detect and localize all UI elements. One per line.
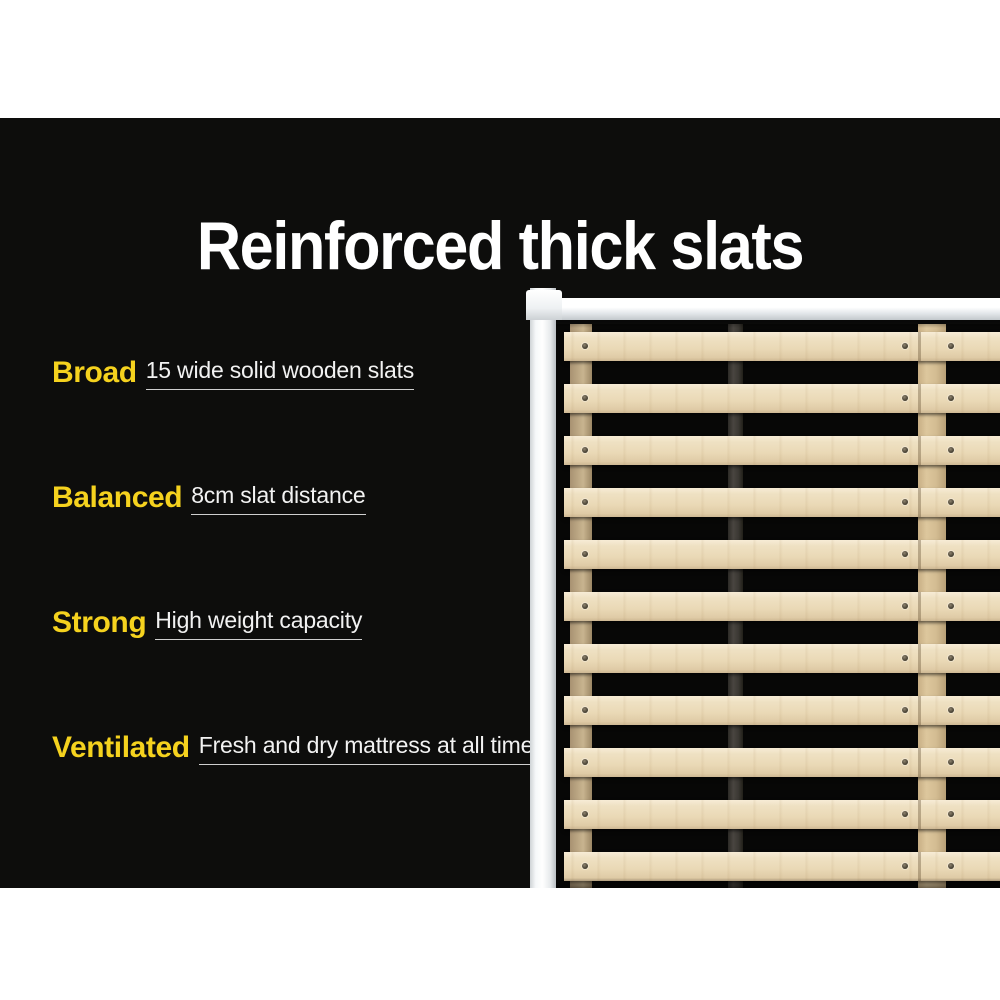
screw-icon bbox=[948, 343, 954, 349]
feature-term: Ventilated bbox=[52, 731, 190, 765]
screw-icon bbox=[948, 863, 954, 869]
screw-icon bbox=[902, 707, 908, 713]
wooden-slat bbox=[564, 696, 1000, 725]
screw-icon bbox=[902, 603, 908, 609]
deck-bottom-fade bbox=[542, 878, 1000, 888]
screw-icon bbox=[582, 707, 588, 713]
feature-item-broad: Broad 15 wide solid wooden slats bbox=[52, 356, 522, 481]
wooden-slat bbox=[564, 592, 1000, 621]
slat-seam bbox=[918, 436, 921, 465]
slat-seam bbox=[918, 540, 921, 569]
slat-seam bbox=[918, 800, 921, 829]
slat-seam bbox=[918, 488, 921, 517]
feature-term: Broad bbox=[52, 356, 137, 390]
wooden-slat bbox=[564, 332, 1000, 361]
wooden-slat bbox=[564, 748, 1000, 777]
wooden-slat bbox=[564, 436, 1000, 465]
screw-icon bbox=[902, 499, 908, 505]
screw-icon bbox=[902, 343, 908, 349]
screw-icon bbox=[902, 447, 908, 453]
feature-item-balanced: Balanced 8cm slat distance bbox=[52, 481, 522, 606]
screw-icon bbox=[948, 395, 954, 401]
feature-description: 8cm slat distance bbox=[191, 482, 365, 515]
product-photo bbox=[516, 118, 1000, 888]
feature-list: Broad 15 wide solid wooden slats Balance… bbox=[52, 356, 522, 856]
feature-term: Strong bbox=[52, 606, 146, 640]
screw-icon bbox=[948, 603, 954, 609]
feature-description: Fresh and dry mattress at all times bbox=[199, 732, 545, 765]
screw-icon bbox=[948, 759, 954, 765]
feature-description: High weight capacity bbox=[155, 607, 362, 640]
screw-icon bbox=[948, 811, 954, 817]
screw-icon bbox=[582, 759, 588, 765]
screw-icon bbox=[902, 551, 908, 557]
feature-item-ventilated: Ventilated Fresh and dry mattress at all… bbox=[52, 731, 522, 856]
slat-seam bbox=[918, 644, 921, 673]
promo-image-canvas: Reinforced thick slats Broad 15 wide sol… bbox=[0, 0, 1000, 1000]
bed-frame-post-cap bbox=[526, 290, 562, 320]
screw-icon bbox=[582, 447, 588, 453]
slat-deck bbox=[542, 324, 1000, 888]
wooden-slat bbox=[564, 540, 1000, 569]
bed-frame-rail-shadow bbox=[542, 320, 1000, 328]
screw-icon bbox=[948, 655, 954, 661]
wooden-slat bbox=[564, 852, 1000, 881]
screw-icon bbox=[582, 499, 588, 505]
screw-icon bbox=[582, 395, 588, 401]
wooden-slat bbox=[564, 800, 1000, 829]
screw-icon bbox=[902, 759, 908, 765]
screw-icon bbox=[948, 499, 954, 505]
screw-icon bbox=[902, 655, 908, 661]
screw-icon bbox=[582, 343, 588, 349]
feature-item-strong: Strong High weight capacity bbox=[52, 606, 522, 731]
wooden-slat bbox=[564, 488, 1000, 517]
screw-icon bbox=[948, 551, 954, 557]
screw-icon bbox=[902, 811, 908, 817]
slat-seam bbox=[918, 332, 921, 361]
slat-seam bbox=[918, 592, 921, 621]
screw-icon bbox=[582, 811, 588, 817]
screw-icon bbox=[948, 707, 954, 713]
slat-seam bbox=[918, 696, 921, 725]
bed-frame-top-rail bbox=[542, 298, 1000, 320]
screw-icon bbox=[582, 863, 588, 869]
screw-icon bbox=[582, 655, 588, 661]
slat-seam bbox=[918, 748, 921, 777]
screw-icon bbox=[902, 863, 908, 869]
slat-seam bbox=[918, 852, 921, 881]
bed-frame-post bbox=[530, 288, 556, 888]
wooden-slat bbox=[564, 644, 1000, 673]
feature-term: Balanced bbox=[52, 481, 182, 515]
screw-icon bbox=[902, 395, 908, 401]
promo-panel: Reinforced thick slats Broad 15 wide sol… bbox=[0, 118, 1000, 888]
feature-description: 15 wide solid wooden slats bbox=[146, 357, 414, 390]
slat-seam bbox=[918, 384, 921, 413]
wooden-slat bbox=[564, 384, 1000, 413]
screw-icon bbox=[948, 447, 954, 453]
screw-icon bbox=[582, 551, 588, 557]
screw-icon bbox=[582, 603, 588, 609]
